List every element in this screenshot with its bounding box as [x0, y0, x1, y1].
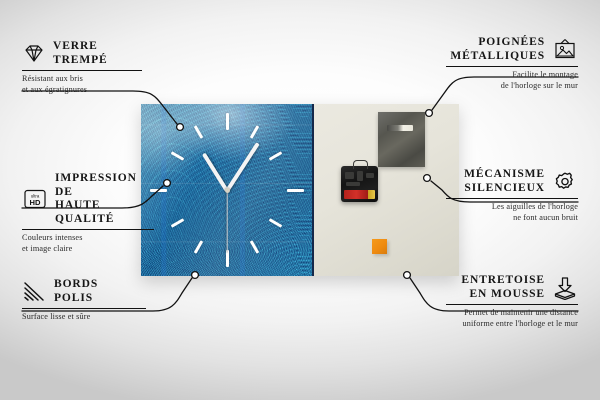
ultra-hd-icon: ultra HD: [22, 188, 48, 210]
infographic-canvas: VERRE TREMPÉ Résistant aux bris et aux é…: [0, 0, 600, 400]
callout-polished-edges[interactable]: BORDS POLIS Surface lisse et sûre: [22, 278, 146, 323]
clock-front-face: [141, 104, 314, 276]
callout-sub-line2: ne font aucun bruit: [446, 213, 578, 223]
callout-sub-line1: Facilite le montage: [446, 70, 578, 80]
callout-print-quality[interactable]: ultra HD IMPRESSION DE HAUTE QUALITÉ Cou…: [22, 172, 154, 254]
callout-sub-line1: Permet de maintenir une distance: [446, 308, 578, 318]
callout-rule: [446, 304, 578, 305]
callout-sub-line2: et aux égratignures: [22, 85, 142, 95]
callout-sub-line1: Les aiguilles de l'horloge: [446, 202, 578, 212]
clock-second-hand: [226, 191, 227, 253]
hanger-slot: [387, 125, 413, 131]
callout-sub-line1: Surface lisse et sûre: [22, 312, 146, 322]
callout-title-line2: MÉTALLIQUES: [450, 50, 545, 64]
callout-rule: [22, 229, 154, 230]
callout-tempered-glass[interactable]: VERRE TREMPÉ Résistant aux bris et aux é…: [22, 40, 142, 95]
mechanism-hanging-loop: [353, 160, 368, 169]
callout-title-line2: SILENCIEUX: [464, 182, 545, 196]
callout-title-line1: IMPRESSION DE: [55, 172, 154, 199]
polished-edges-icon: [22, 281, 47, 302]
metal-hanger-plate: [378, 112, 425, 167]
callout-title-line2: POLIS: [54, 292, 98, 306]
callout-header: ENTRETOISE EN MOUSSE: [446, 274, 578, 301]
clock-back-panel: [314, 104, 459, 276]
gear-icon: [552, 170, 578, 193]
callout-title-line1: POIGNÉES: [450, 36, 545, 50]
svg-text:HD: HD: [30, 198, 41, 207]
mechanism-battery: [344, 190, 375, 199]
callout-silent-mechanism[interactable]: MÉCANISME SILENCIEUX Les aiguilles de l'…: [446, 168, 578, 223]
foam-spacer-icon: [552, 276, 578, 300]
picture-frame-icon: [552, 38, 578, 61]
product-photo: [141, 104, 459, 276]
callout-title-line1: VERRE: [53, 40, 108, 54]
mechanism-detail: [346, 182, 360, 186]
callout-rule: [446, 198, 578, 199]
callout-sub-line1: Couleurs intenses: [22, 233, 154, 243]
callout-foam-spacer[interactable]: ENTRETOISE EN MOUSSE Permet de maintenir…: [446, 274, 578, 329]
callout-title-line2: TREMPÉ: [53, 54, 108, 68]
clock-center-pin: [225, 188, 230, 193]
callout-rule: [22, 308, 146, 309]
mechanism-detail: [357, 171, 363, 181]
callout-sub-line2: uniforme entre l'horloge et le mur: [446, 319, 578, 329]
callout-sub-line2: et image claire: [22, 244, 154, 254]
mechanism-detail: [345, 172, 354, 179]
callout-header: ultra HD IMPRESSION DE HAUTE QUALITÉ: [22, 172, 154, 226]
callout-header: BORDS POLIS: [22, 278, 146, 305]
callout-title-line1: BORDS: [54, 278, 98, 292]
callout-title-line2: HAUTE QUALITÉ: [55, 199, 154, 226]
callout-title-line1: ENTRETOISE: [461, 274, 545, 288]
quartz-mechanism: [341, 166, 378, 202]
foam-spacer-pad: [372, 239, 387, 254]
callout-header: POIGNÉES MÉTALLIQUES: [446, 36, 578, 63]
callout-header: MÉCANISME SILENCIEUX: [446, 168, 578, 195]
callout-sub-line2: de l'horloge sur le mur: [446, 81, 578, 91]
callout-metal-handles[interactable]: POIGNÉES MÉTALLIQUES Facilite le montage…: [446, 36, 578, 91]
callout-rule: [446, 66, 578, 67]
callout-title-line2: EN MOUSSE: [461, 288, 545, 302]
clock-tick: [287, 189, 304, 192]
mechanism-detail: [366, 173, 374, 178]
callout-header: VERRE TREMPÉ: [22, 40, 142, 67]
callout-rule: [22, 70, 142, 71]
clock-tick: [226, 113, 229, 130]
callout-title-line1: MÉCANISME: [464, 168, 545, 182]
diamond-icon: [22, 44, 46, 64]
callout-sub-line1: Résistant aux bris: [22, 74, 142, 84]
